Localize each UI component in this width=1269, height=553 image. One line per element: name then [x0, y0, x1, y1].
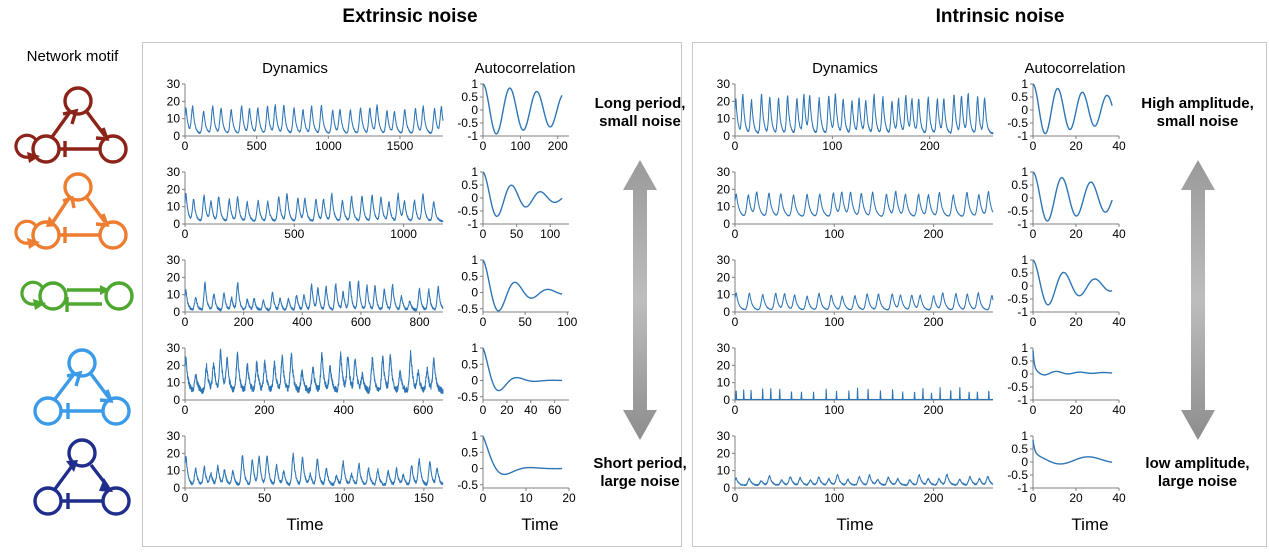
svg-text:200: 200 — [254, 403, 274, 417]
svg-text:20: 20 — [500, 403, 514, 417]
svg-text:100: 100 — [334, 491, 354, 505]
svg-text:0: 0 — [723, 129, 730, 143]
plot-intrinsic-autocorr-5: -1-0.500.5102040 — [1005, 432, 1125, 504]
plot-extrinsic-autocorr-2: -1-0.500.51050100 — [455, 168, 575, 240]
svg-text:0: 0 — [1030, 139, 1037, 153]
svg-text:0.5: 0.5 — [1011, 178, 1028, 192]
svg-text:0: 0 — [480, 403, 487, 417]
svg-text:0: 0 — [1030, 227, 1037, 241]
svg-text:20: 20 — [167, 446, 181, 460]
svg-text:20: 20 — [167, 358, 181, 372]
svg-text:-0.5: -0.5 — [1007, 116, 1028, 130]
plot-extrinsic-autocorr-5: -0.500.5101020 — [455, 432, 575, 504]
svg-text:0: 0 — [723, 481, 730, 495]
plot-intrinsic-dynamics-2: 01020300100200 — [705, 168, 995, 240]
svg-text:0: 0 — [182, 491, 189, 505]
svg-text:0.5: 0.5 — [461, 357, 478, 371]
motif-green — [16, 270, 136, 332]
svg-text:-1: -1 — [1017, 217, 1028, 231]
svg-text:0: 0 — [732, 139, 739, 153]
svg-text:0: 0 — [1030, 403, 1037, 417]
svg-text:1: 1 — [471, 253, 478, 267]
plot-extrinsic-autocorr-1: -1-0.500.510100200 — [455, 80, 575, 152]
svg-text:0: 0 — [480, 491, 487, 505]
svg-text:1: 1 — [471, 165, 478, 179]
svg-text:400: 400 — [292, 315, 312, 329]
svg-text:20: 20 — [167, 182, 181, 196]
svg-text:20: 20 — [1069, 315, 1083, 329]
plot-extrinsic-autocorr-4: -0.500.510204060 — [455, 344, 575, 416]
svg-text:0: 0 — [1021, 455, 1028, 469]
svg-text:0.5: 0.5 — [1011, 90, 1028, 104]
svg-text:0: 0 — [1021, 367, 1028, 381]
svg-text:30: 30 — [167, 165, 181, 179]
svg-text:1: 1 — [1021, 165, 1028, 179]
svg-text:20: 20 — [717, 446, 731, 460]
motif-dark-red — [16, 86, 136, 170]
annotation-extrinsic-top-line1: Long period, — [580, 95, 700, 113]
svg-text:100: 100 — [824, 491, 844, 505]
svg-text:0: 0 — [182, 403, 189, 417]
svg-text:-1: -1 — [1017, 305, 1028, 319]
svg-text:0: 0 — [471, 462, 478, 476]
svg-text:40: 40 — [1112, 315, 1126, 329]
plot-intrinsic-dynamics-3: 01020300100200 — [705, 256, 995, 328]
plot-intrinsic-dynamics-1: 01020300100200 — [705, 80, 995, 152]
svg-text:0: 0 — [471, 191, 478, 205]
annotation-intrinsic-bottom-line1: low amplitude, — [1130, 455, 1265, 473]
svg-text:150: 150 — [414, 491, 434, 505]
svg-text:1: 1 — [1021, 253, 1028, 267]
svg-text:-0.5: -0.5 — [457, 204, 478, 218]
svg-text:200: 200 — [234, 315, 254, 329]
svg-text:0: 0 — [723, 217, 730, 231]
svg-text:-0.5: -0.5 — [1007, 380, 1028, 394]
plot-intrinsic-autocorr-2: -1-0.500.5102040 — [1005, 168, 1125, 240]
plot-extrinsic-dynamics-1: 0102030050010001500 — [155, 80, 445, 152]
svg-text:30: 30 — [717, 253, 731, 267]
annotation-extrinsic-bottom-line1: Short period, — [580, 455, 700, 473]
svg-text:100: 100 — [824, 315, 844, 329]
svg-text:800: 800 — [410, 315, 430, 329]
svg-text:10: 10 — [167, 288, 181, 302]
svg-text:200: 200 — [923, 227, 943, 241]
svg-text:-0.5: -0.5 — [457, 478, 478, 492]
svg-text:0: 0 — [480, 227, 487, 241]
svg-text:20: 20 — [1069, 491, 1083, 505]
svg-text:40: 40 — [524, 403, 538, 417]
svg-text:1: 1 — [471, 429, 478, 443]
svg-text:0: 0 — [173, 481, 180, 495]
svg-text:10: 10 — [717, 464, 731, 478]
svg-text:50: 50 — [518, 315, 532, 329]
annotation-intrinsic-bottom-line2: large noise — [1130, 473, 1265, 491]
column-header-intrinsic-autocorrelation: Autocorrelation — [995, 60, 1155, 77]
svg-text:0: 0 — [732, 227, 739, 241]
svg-text:100: 100 — [510, 139, 530, 153]
svg-text:-1: -1 — [1017, 129, 1028, 143]
svg-text:100: 100 — [824, 227, 844, 241]
xaxis-label-extrinsic-autocorr: Time — [490, 515, 590, 535]
svg-text:20: 20 — [1069, 139, 1083, 153]
svg-text:10: 10 — [717, 200, 731, 214]
svg-text:200: 200 — [923, 491, 943, 505]
svg-text:0: 0 — [1021, 279, 1028, 293]
svg-text:10: 10 — [167, 376, 181, 390]
svg-text:30: 30 — [717, 341, 731, 355]
svg-text:0: 0 — [173, 393, 180, 407]
motif-dark-blue — [24, 438, 139, 522]
svg-text:100: 100 — [557, 315, 577, 329]
svg-text:200: 200 — [923, 315, 943, 329]
svg-text:-0.5: -0.5 — [1007, 292, 1028, 306]
svg-text:0: 0 — [732, 403, 739, 417]
svg-text:10: 10 — [717, 288, 731, 302]
svg-text:0: 0 — [1030, 491, 1037, 505]
svg-text:0: 0 — [1021, 103, 1028, 117]
svg-text:0: 0 — [182, 139, 189, 153]
svg-text:-1: -1 — [1017, 481, 1028, 495]
column-header-extrinsic-dynamics: Dynamics — [215, 60, 375, 77]
svg-text:20: 20 — [1069, 227, 1083, 241]
svg-text:400: 400 — [334, 403, 354, 417]
svg-text:30: 30 — [167, 253, 181, 267]
svg-text:-0.5: -0.5 — [457, 302, 478, 316]
svg-text:0.5: 0.5 — [1011, 266, 1028, 280]
svg-text:100: 100 — [824, 403, 844, 417]
annotation-intrinsic-top-line2: small noise — [1130, 113, 1265, 131]
motif-orange — [16, 172, 136, 256]
panel-title-intrinsic: Intrinsic noise — [830, 6, 1170, 28]
svg-text:0.5: 0.5 — [1011, 354, 1028, 368]
svg-text:1: 1 — [1021, 341, 1028, 355]
plot-extrinsic-autocorr-3: -0.500.51050100 — [455, 256, 575, 328]
svg-text:0: 0 — [471, 374, 478, 388]
plot-intrinsic-dynamics-4: 01020300100200 — [705, 344, 995, 416]
column-header-extrinsic-autocorrelation: Autocorrelation — [445, 60, 605, 77]
svg-text:40: 40 — [1112, 227, 1126, 241]
xaxis-label-intrinsic-dynamics: Time — [805, 515, 905, 535]
figure-root: Extrinsic noise Intrinsic noise Network … — [0, 0, 1269, 553]
double-arrow-intrinsic — [1170, 160, 1226, 440]
svg-text:30: 30 — [717, 77, 731, 91]
column-header-intrinsic-dynamics: Dynamics — [765, 60, 925, 77]
plot-intrinsic-dynamics-5: 01020300100200 — [705, 432, 995, 504]
svg-text:10: 10 — [167, 464, 181, 478]
svg-text:30: 30 — [717, 165, 731, 179]
svg-text:-0.5: -0.5 — [457, 116, 478, 130]
annotation-extrinsic-top: Long period, small noise — [580, 95, 700, 132]
svg-text:40: 40 — [1112, 491, 1126, 505]
plot-extrinsic-dynamics-3: 01020300200400600800 — [155, 256, 445, 328]
svg-text:20: 20 — [167, 270, 181, 284]
svg-text:0: 0 — [182, 315, 189, 329]
network-motif-column-label: Network motif — [10, 48, 135, 65]
svg-text:0.5: 0.5 — [1011, 442, 1028, 456]
svg-text:0: 0 — [1021, 191, 1028, 205]
svg-text:20: 20 — [717, 182, 731, 196]
svg-text:-0.5: -0.5 — [1007, 468, 1028, 482]
svg-text:0: 0 — [173, 129, 180, 143]
svg-text:100: 100 — [822, 139, 842, 153]
svg-text:50: 50 — [510, 227, 524, 241]
svg-text:10: 10 — [167, 112, 181, 126]
svg-text:1: 1 — [1021, 77, 1028, 91]
svg-text:10: 10 — [717, 376, 731, 390]
svg-text:30: 30 — [167, 341, 181, 355]
svg-text:500: 500 — [247, 139, 267, 153]
annotation-extrinsic-bottom-line2: large noise — [580, 473, 700, 491]
svg-text:10: 10 — [519, 491, 533, 505]
svg-text:60: 60 — [548, 403, 562, 417]
motif-light-blue — [24, 348, 139, 432]
panel-title-extrinsic: Extrinsic noise — [240, 6, 580, 28]
svg-text:30: 30 — [167, 77, 181, 91]
svg-text:0: 0 — [480, 139, 487, 153]
svg-text:20: 20 — [167, 94, 181, 108]
plot-extrinsic-dynamics-5: 0102030050100150 — [155, 432, 445, 504]
plot-intrinsic-autocorr-4: -1-0.500.5102040 — [1005, 344, 1125, 416]
xaxis-label-intrinsic-autocorr: Time — [1040, 515, 1140, 535]
svg-text:20: 20 — [717, 270, 731, 284]
svg-text:100: 100 — [540, 227, 560, 241]
svg-text:40: 40 — [1112, 403, 1126, 417]
svg-text:1000: 1000 — [315, 139, 342, 153]
annotation-extrinsic-bottom: Short period, large noise — [580, 455, 700, 492]
svg-text:0: 0 — [182, 227, 189, 241]
annotation-intrinsic-bottom: low amplitude, large noise — [1130, 455, 1265, 492]
svg-text:-1: -1 — [467, 129, 478, 143]
svg-text:1000: 1000 — [390, 227, 417, 241]
svg-text:0: 0 — [732, 315, 739, 329]
svg-text:-1: -1 — [1017, 393, 1028, 407]
svg-text:20: 20 — [717, 358, 731, 372]
plot-extrinsic-dynamics-2: 010203005001000 — [155, 168, 445, 240]
svg-text:0: 0 — [732, 491, 739, 505]
annotation-intrinsic-top: High amplitude, small noise — [1130, 95, 1265, 132]
svg-text:1: 1 — [471, 77, 478, 91]
svg-text:0.5: 0.5 — [461, 269, 478, 283]
svg-text:20: 20 — [1069, 403, 1083, 417]
plot-intrinsic-autocorr-3: -1-0.500.5102040 — [1005, 256, 1125, 328]
svg-text:30: 30 — [717, 429, 731, 443]
svg-text:0: 0 — [471, 103, 478, 117]
plot-extrinsic-dynamics-4: 01020300200400600 — [155, 344, 445, 416]
svg-text:200: 200 — [920, 139, 940, 153]
svg-text:0: 0 — [1030, 315, 1037, 329]
svg-text:0: 0 — [480, 315, 487, 329]
svg-text:1: 1 — [471, 341, 478, 355]
svg-text:0: 0 — [471, 286, 478, 300]
svg-text:30: 30 — [167, 429, 181, 443]
svg-text:0.5: 0.5 — [461, 90, 478, 104]
xaxis-label-extrinsic-dynamics: Time — [255, 515, 355, 535]
svg-text:0.5: 0.5 — [461, 178, 478, 192]
svg-text:500: 500 — [284, 227, 304, 241]
svg-text:0: 0 — [173, 217, 180, 231]
svg-text:200: 200 — [548, 139, 568, 153]
svg-text:0: 0 — [723, 393, 730, 407]
svg-text:600: 600 — [413, 403, 433, 417]
annotation-extrinsic-top-line2: small noise — [580, 113, 700, 131]
svg-text:10: 10 — [167, 200, 181, 214]
svg-text:200: 200 — [923, 403, 943, 417]
svg-text:50: 50 — [258, 491, 272, 505]
svg-text:-0.5: -0.5 — [1007, 204, 1028, 218]
svg-text:0.5: 0.5 — [461, 445, 478, 459]
annotation-intrinsic-top-line1: High amplitude, — [1130, 95, 1265, 113]
svg-text:40: 40 — [1112, 139, 1126, 153]
svg-text:10: 10 — [717, 112, 731, 126]
svg-text:-0.5: -0.5 — [457, 390, 478, 404]
svg-text:600: 600 — [351, 315, 371, 329]
double-arrow-extrinsic — [612, 160, 668, 440]
svg-text:20: 20 — [562, 491, 576, 505]
svg-text:0: 0 — [723, 305, 730, 319]
svg-text:0: 0 — [173, 305, 180, 319]
svg-text:1500: 1500 — [387, 139, 414, 153]
svg-text:20: 20 — [717, 94, 731, 108]
svg-text:1: 1 — [1021, 429, 1028, 443]
plot-intrinsic-autocorr-1: -1-0.500.5102040 — [1005, 80, 1125, 152]
svg-text:-1: -1 — [467, 217, 478, 231]
